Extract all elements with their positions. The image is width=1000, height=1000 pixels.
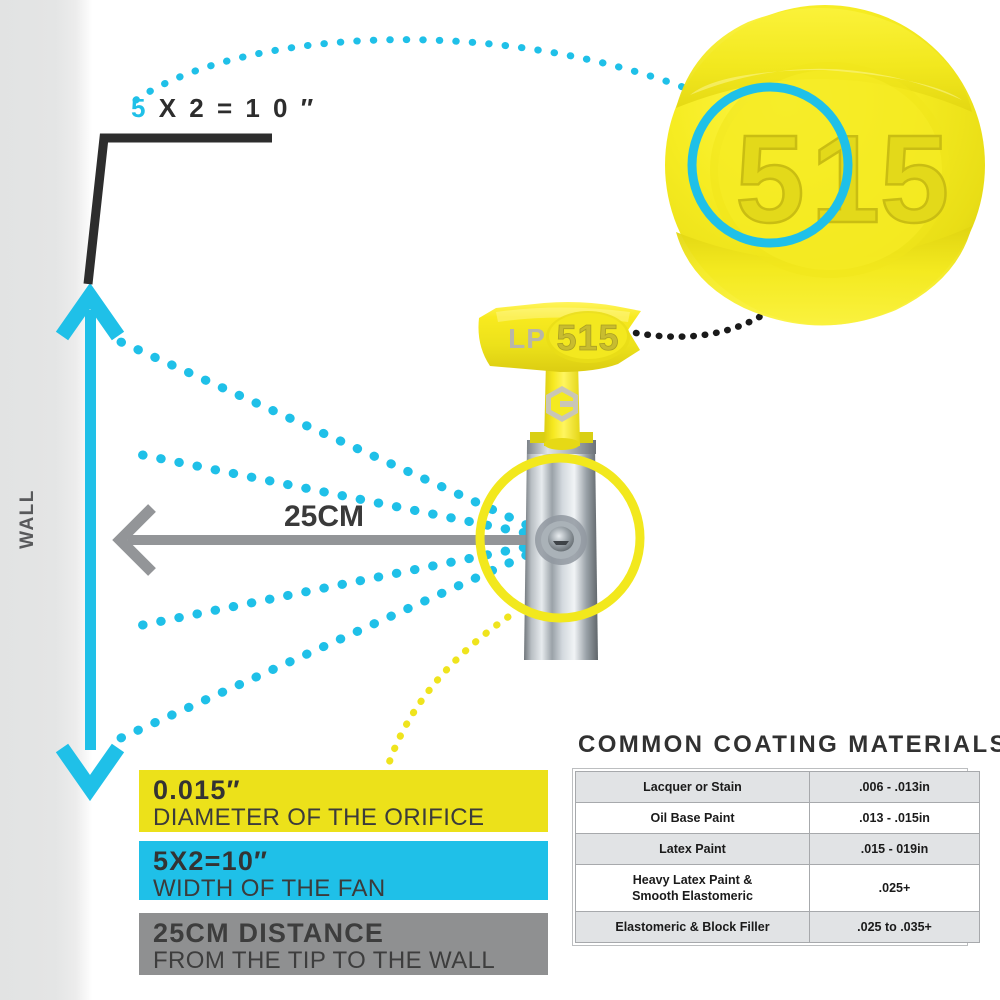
legend-list: 0.015″ DIAMETER OF THE ORIFICE 5X2=10″ W…: [139, 770, 548, 984]
spray-tip-assembly: GRACO LP: [478, 302, 641, 660]
legend-fan-width-description: WIDTH OF THE FAN: [153, 876, 534, 903]
table-cell-material: Oil Base Paint: [576, 803, 810, 834]
fan-width-formula: 5 X 2 = 1 0 ″: [131, 93, 316, 124]
magnified-digits-rest: 15: [811, 111, 949, 249]
legend-item-fan-width: 5X2=10″ WIDTH OF THE FAN: [139, 841, 548, 900]
orifice-dotted-leader: [388, 617, 508, 766]
infographic-canvas: WALL: [0, 0, 1000, 1000]
legend-distance-value: 25CM DISTANCE: [153, 919, 534, 948]
orifice: [535, 515, 587, 565]
legend-orifice-description: DIAMETER OF THE ORIFICE: [153, 805, 534, 832]
distance-label: 25CM: [284, 500, 364, 534]
table-row: Lacquer or Stain .006 - .013in: [576, 772, 980, 803]
legend-item-distance: 25CM DISTANCE FROM THE TIP TO THE WALL: [139, 913, 548, 975]
tip-brand-mark-text: LP: [508, 323, 546, 354]
table-cell-size: .015 - 019in: [810, 834, 980, 865]
magnified-tip-cap: 5 15: [665, 5, 985, 326]
magnified-digit-highlight: 5: [736, 111, 805, 249]
legend-distance-description: FROM THE TIP TO THE WALL: [153, 948, 534, 975]
table-row: Heavy Latex Paint &Smooth Elastomeric .0…: [576, 865, 980, 912]
tip-number-text: 515: [556, 317, 619, 358]
legend-item-orifice: 0.015″ DIAMETER OF THE ORIFICE: [139, 770, 548, 832]
table-cell-material: Elastomeric & Block Filler: [576, 912, 810, 943]
table-title: COMMON COATING MATERIALS: [578, 731, 1000, 759]
table-cell-size: .013 - .015in: [810, 803, 980, 834]
table-cell-size: .006 - .013in: [810, 772, 980, 803]
table-cell-material: Lacquer or Stain: [576, 772, 810, 803]
fan-width-formula-multiplier: 5: [131, 93, 148, 123]
legend-orifice-value: 0.015″: [153, 776, 534, 805]
table-cell-material: Latex Paint: [576, 834, 810, 865]
legend-fan-width-value: 5X2=10″: [153, 847, 534, 876]
table-cell-material: Heavy Latex Paint &Smooth Elastomeric: [576, 865, 810, 912]
coating-materials-table: Lacquer or Stain .006 - .013in Oil Base …: [572, 768, 968, 946]
table-row: Latex Paint .015 - 019in: [576, 834, 980, 865]
table-cell-size: .025+: [810, 865, 980, 912]
table-row: Oil Base Paint .013 - .015in: [576, 803, 980, 834]
fan-width-formula-rest: X 2 = 1 0 ″: [148, 93, 316, 123]
fan-height-arrow: [62, 296, 118, 788]
fan-width-leader-bracket: [88, 138, 272, 284]
table-row: Elastomeric & Block Filler .025 to .035+: [576, 912, 980, 943]
table-cell-size: .025 to .035+: [810, 912, 980, 943]
